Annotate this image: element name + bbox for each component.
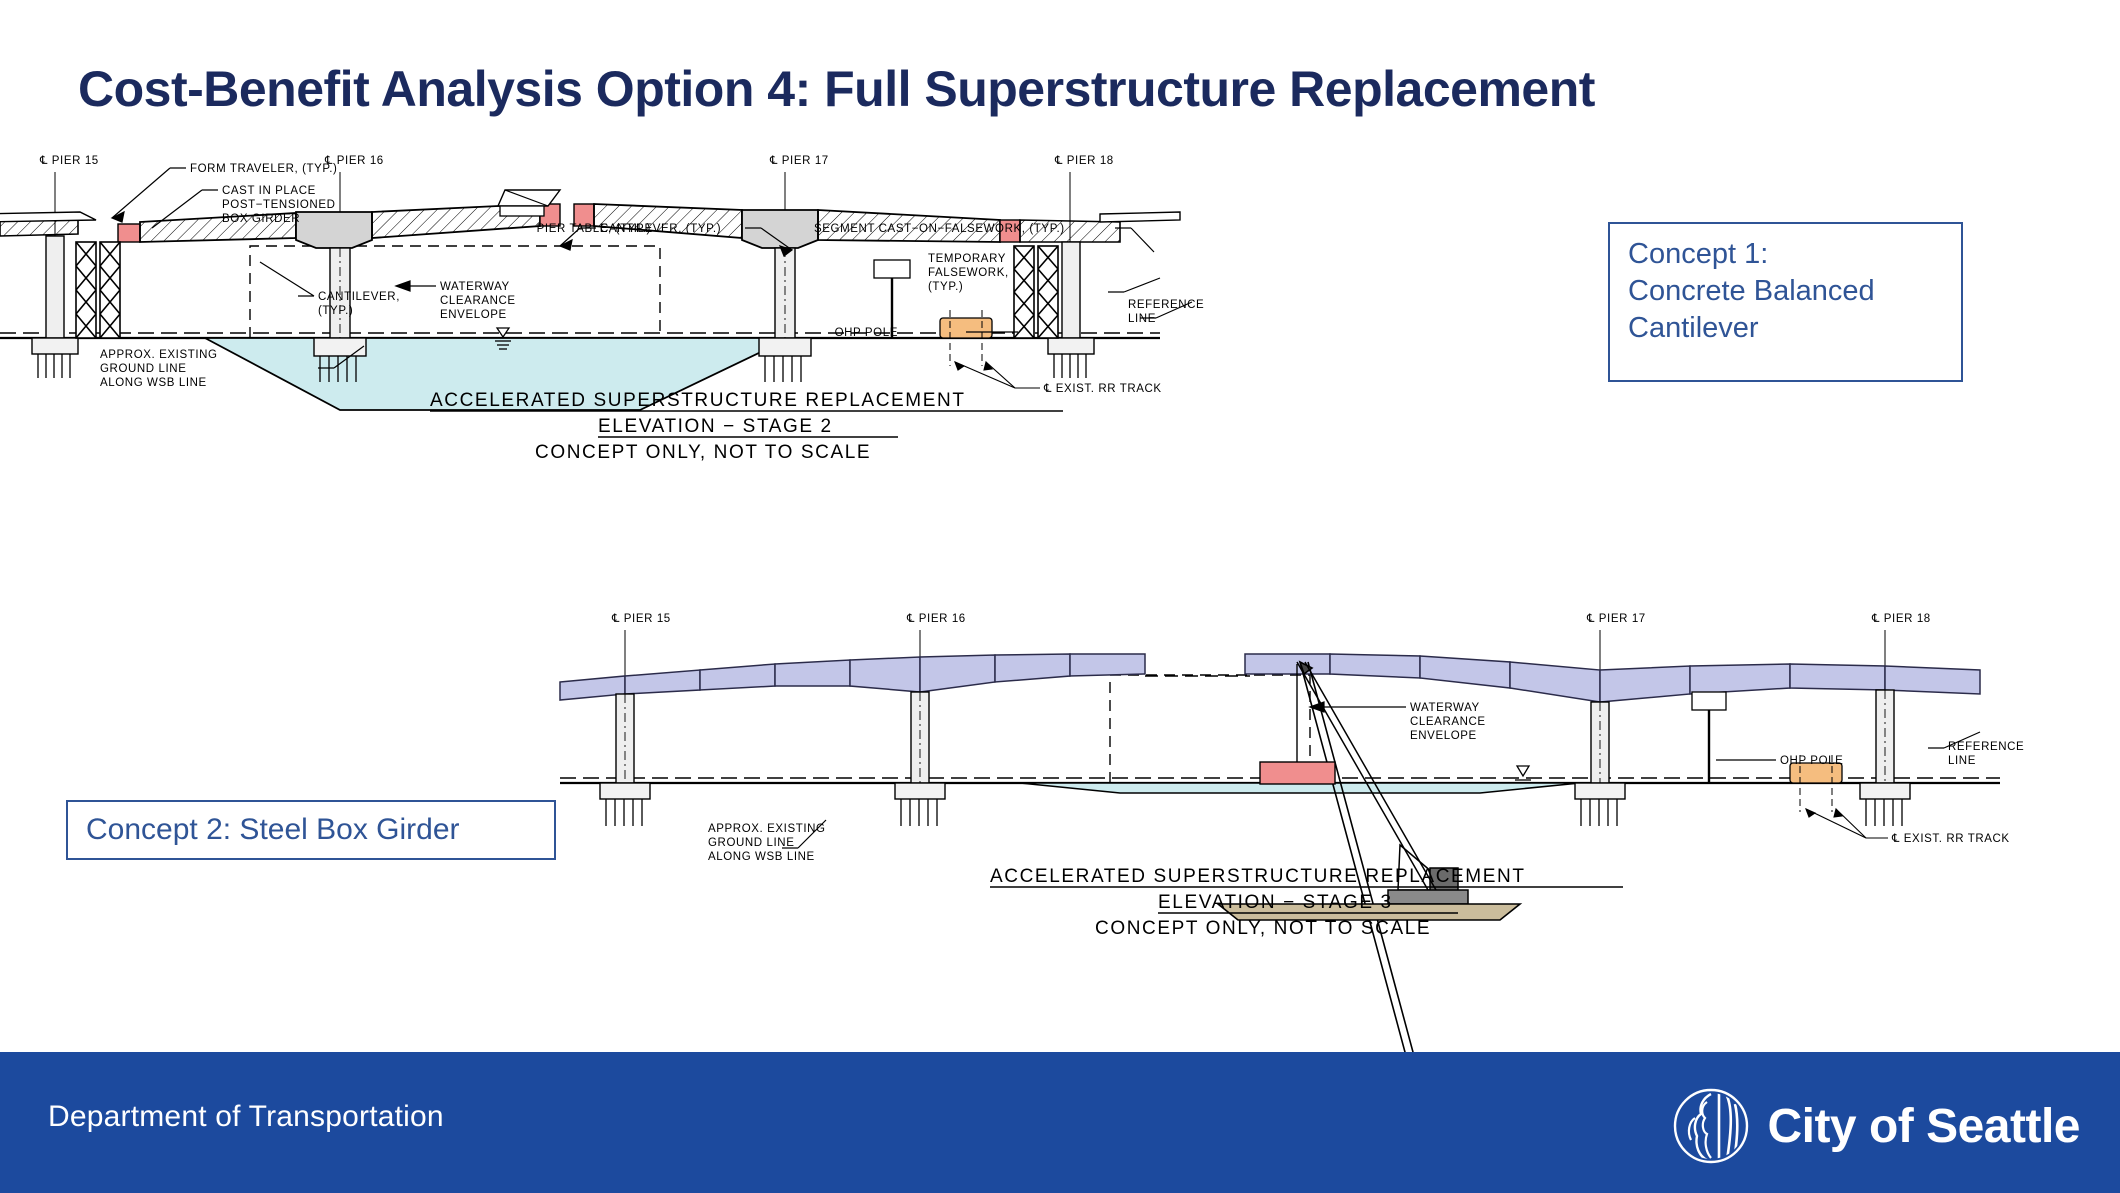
annotation-envelope: ENVELOPE: [440, 309, 507, 321]
annotation-line: LINE: [1128, 313, 1156, 325]
annotation-box-girder: BOX GIRDER: [222, 213, 300, 225]
title-block-line1: ACCELERATED SUPERSTRUCTURE REPLACEMENT: [990, 866, 1526, 887]
pier-label: ℄ PIER 16: [906, 613, 966, 625]
annotation-cast-in-place: CAST IN PLACE: [222, 185, 316, 197]
annotation-segment-falsework: SEGMENT CAST−ON−FALSEWORK, (TYP.): [814, 223, 1065, 235]
annotation-post-tensioned: POST−TENSIONED: [222, 199, 336, 211]
pier-column: [1575, 702, 1625, 799]
pier-label: ℄ PIER 17: [1586, 613, 1646, 625]
annotation-clearance: CLEARANCE: [440, 295, 516, 307]
annotation-waterway: WATERWAY: [1410, 702, 1480, 714]
ohp-pole: [1692, 692, 1726, 783]
form-traveler: [0, 212, 96, 222]
steel-box-girder: [560, 654, 1980, 702]
rr-track-leader: [1806, 809, 1888, 838]
annotation-clearance: CLEARANCE: [1410, 716, 1486, 728]
annotation-ohp-pole: OHP POLE: [1780, 755, 1843, 767]
city-of-seattle-logo: City of Seattle: [1673, 1088, 2080, 1164]
pier-label: ℄ PIER 18: [1054, 155, 1114, 167]
drawing-stage-2: ℄ PIER 15 ℄ PIER 16 ℄ PIER 17 ℄ PIER 18: [0, 150, 1600, 620]
annotation-along-wsb: ALONG WSB LINE: [708, 851, 815, 863]
concept-2-label: Concept 2: Steel Box Girder: [86, 811, 460, 849]
title-block-stage-2: ACCELERATED SUPERSTRUCTURE REPLACEMENT E…: [430, 390, 1063, 463]
lifted-segment: [1260, 762, 1335, 784]
pier-column: [895, 692, 945, 799]
concept-1-line2: Concrete Balanced: [1628, 273, 1943, 310]
form-traveler: [1100, 212, 1180, 222]
slide-canvas: Cost-Benefit Analysis Option 4: Full Sup…: [0, 0, 2120, 1193]
closure-segment: [118, 224, 140, 242]
annotation-along-wsb: ALONG WSB LINE: [100, 377, 207, 389]
concept-1-line1: Concept 1:: [1628, 236, 1943, 273]
annotation-form-traveler: FORM TRAVELER, (TYP.): [190, 163, 337, 175]
annotation-ohp-pole: OHP POLE: [835, 327, 898, 339]
title-block-line1: ACCELERATED SUPERSTRUCTURE REPLACEMENT: [430, 390, 966, 411]
pier-label: ℄ PIER 15: [39, 155, 99, 167]
falsework-equipment-block: [940, 318, 992, 338]
annotation-ground-line: GROUND LINE: [100, 363, 186, 375]
city-of-seattle-wordmark: City of Seattle: [1767, 1099, 2080, 1154]
concept-1-callout: Concept 1: Concrete Balanced Cantilever: [1608, 222, 1963, 382]
seattle-seal-icon: [1673, 1088, 1749, 1164]
title-block-stage-3: ACCELERATED SUPERSTRUCTURE REPLACEMENT E…: [990, 866, 1623, 939]
temporary-falsework: [76, 242, 1058, 338]
concept-2-callout: Concept 2: Steel Box Girder: [66, 800, 556, 860]
pier-column: [759, 248, 811, 356]
annotation-line: LINE: [1948, 755, 1976, 767]
annotation-falsework: FALSEWORK,: [928, 267, 1009, 279]
rr-track-leader: [955, 362, 1040, 388]
annotation-cantilever-typ: (TYP.): [318, 305, 353, 317]
title-block-line2: ELEVATION − STAGE 3: [1158, 892, 1393, 913]
title-block-line2: ELEVATION − STAGE 2: [598, 416, 833, 437]
page-title: Cost-Benefit Analysis Option 4: Full Sup…: [78, 60, 1595, 118]
annotation-approx-existing: APPROX. EXISTING: [708, 823, 826, 835]
annotation-rr-track: ℄ EXIST. RR TRACK: [1043, 383, 1162, 395]
annotation-approx-existing: APPROX. EXISTING: [100, 349, 218, 361]
annotation-temporary: TEMPORARY: [928, 253, 1006, 265]
concept-1-line3: Cantilever: [1628, 310, 1943, 347]
annotation-cantilever-2: CANTILEVER,: [318, 291, 400, 303]
pier-column: [32, 236, 78, 354]
pier-table: [742, 210, 818, 248]
pier-label: ℄ PIER 17: [769, 155, 829, 167]
pier-column: [1860, 690, 1910, 799]
title-block-line3: CONCEPT ONLY, NOT TO SCALE: [1095, 918, 1431, 939]
pier-label: ℄ PIER 18: [1871, 613, 1931, 625]
annotation-reference: REFERENCE: [1948, 741, 2024, 753]
pier-column: [600, 694, 650, 799]
title-block-line3: CONCEPT ONLY, NOT TO SCALE: [535, 442, 871, 463]
annotation-pier-table: PIER TABLE, (TYP.): [537, 223, 651, 235]
annotation-ground-line: GROUND LINE: [708, 837, 794, 849]
pier-label: ℄ PIER 15: [611, 613, 671, 625]
annotation-falsework-typ: (TYP.): [928, 281, 963, 293]
pier-table: [296, 212, 372, 248]
annotation-envelope: ENVELOPE: [1410, 730, 1477, 742]
annotation-waterway: WATERWAY: [440, 281, 510, 293]
pile-group: [606, 799, 1902, 826]
annotation-rr-track: ℄ EXIST. RR TRACK: [1891, 833, 2010, 845]
footer-department: Department of Transportation: [48, 1100, 444, 1134]
annotation-reference: REFERENCE: [1128, 299, 1204, 311]
